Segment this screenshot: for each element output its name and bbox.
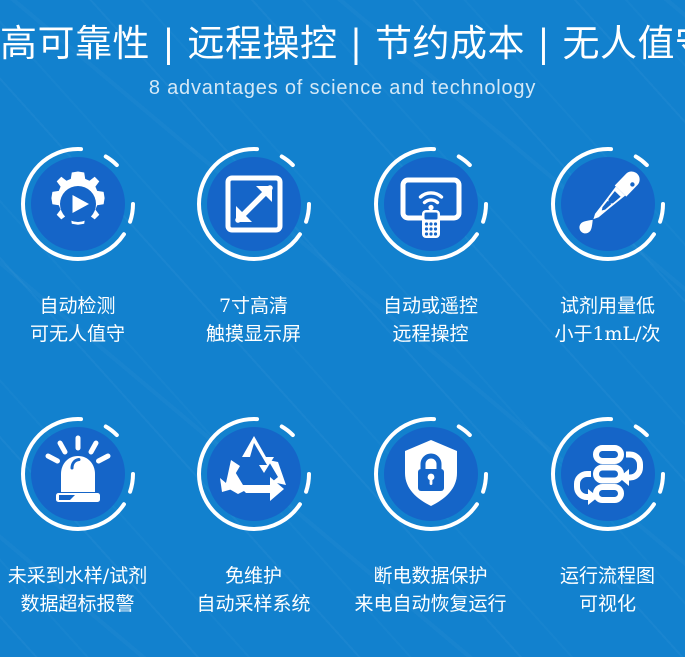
advantage-line1-3: 自动或遥控 xyxy=(383,295,478,317)
page-subtitle: 8 advantages of science and technology xyxy=(0,75,685,101)
advantage-caption-5: 未采到水样/试剂 数据超标报警 xyxy=(0,562,163,618)
alarm-siren-icon xyxy=(14,410,142,538)
advantage-item-1[interactable]: 自动检测 可无人值守 xyxy=(0,140,163,390)
advantage-caption-3: 自动或遥控 远程操控 xyxy=(345,292,516,348)
page-title: 高可靠性 | 远程操控 | 节约成本 | 无人值守 xyxy=(0,22,685,66)
advantage-line2-1: 可无人值守 xyxy=(0,320,163,348)
advantage-item-7[interactable]: 断电数据保护 来电自动恢复运行 xyxy=(345,410,516,657)
pipette-dropper-icon xyxy=(544,140,672,268)
expand-screen-icon xyxy=(190,140,318,268)
advantage-badge-3 xyxy=(345,140,516,270)
advantage-line2-3: 远程操控 xyxy=(345,320,516,348)
advantage-line2-8: 可视化 xyxy=(522,590,685,618)
advantage-item-2[interactable]: 7寸高清 触摸显示屏 xyxy=(168,140,339,390)
advantage-line2-4: 小于1mL/次 xyxy=(522,320,685,348)
advantage-line1-5: 未采到水样/试剂 xyxy=(8,565,147,587)
advantage-caption-1: 自动检测 可无人值守 xyxy=(0,292,163,348)
advantage-badge-6 xyxy=(168,410,339,540)
advantage-line1-1: 自动检测 xyxy=(39,295,115,317)
advantage-badge-5 xyxy=(0,410,163,540)
advantages-row-1: 自动检测 可无人值守 xyxy=(0,140,685,390)
advantage-caption-6: 免维护 自动采样系统 xyxy=(168,562,339,618)
monitor-remote-wifi-icon xyxy=(367,140,495,268)
advantage-line1-4: 试剂用量低 xyxy=(560,295,655,317)
shield-lock-icon xyxy=(367,410,495,538)
advantage-line2-7: 来电自动恢复运行 xyxy=(345,590,516,618)
advantage-line2-6: 自动采样系统 xyxy=(168,590,339,618)
gear-play-icon xyxy=(14,140,142,268)
advantage-badge-8 xyxy=(522,410,685,540)
advantages-row-2: 未采到水样/试剂 数据超标报警 xyxy=(0,410,685,657)
poster-root: 高可靠性 | 远程操控 | 节约成本 | 无人值守 8 advantages o… xyxy=(0,0,685,657)
advantage-item-6[interactable]: 免维护 自动采样系统 xyxy=(168,410,339,657)
advantage-item-4[interactable]: 试剂用量低 小于1mL/次 xyxy=(522,140,685,390)
header: 高可靠性 | 远程操控 | 节约成本 | 无人值守 8 advantages o… xyxy=(0,0,685,120)
advantage-line1-2: 7寸高清 xyxy=(219,295,288,317)
advantage-item-3[interactable]: 自动或遥控 远程操控 xyxy=(345,140,516,390)
advantage-caption-2: 7寸高清 触摸显示屏 xyxy=(168,292,339,348)
advantage-caption-7: 断电数据保护 来电自动恢复运行 xyxy=(345,562,516,618)
advantage-item-8[interactable]: 运行流程图 可视化 xyxy=(522,410,685,657)
advantage-line2-5: 数据超标报警 xyxy=(0,590,163,618)
advantage-line1-8: 运行流程图 xyxy=(560,565,655,587)
advantages-grid: 自动检测 可无人值守 xyxy=(0,140,685,657)
recycle-icon xyxy=(190,410,318,538)
advantage-badge-4 xyxy=(522,140,685,270)
advantage-item-5[interactable]: 未采到水样/试剂 数据超标报警 xyxy=(0,410,163,657)
advantage-caption-4: 试剂用量低 小于1mL/次 xyxy=(522,292,685,348)
advantage-line1-7: 断电数据保护 xyxy=(373,565,487,587)
advantage-caption-8: 运行流程图 可视化 xyxy=(522,562,685,618)
advantage-line2-2: 触摸显示屏 xyxy=(168,320,339,348)
flowchart-loop-icon xyxy=(544,410,672,538)
advantage-badge-1 xyxy=(0,140,163,270)
advantage-line1-6: 免维护 xyxy=(225,565,282,587)
advantage-badge-2 xyxy=(168,140,339,270)
advantage-badge-7 xyxy=(345,410,516,540)
